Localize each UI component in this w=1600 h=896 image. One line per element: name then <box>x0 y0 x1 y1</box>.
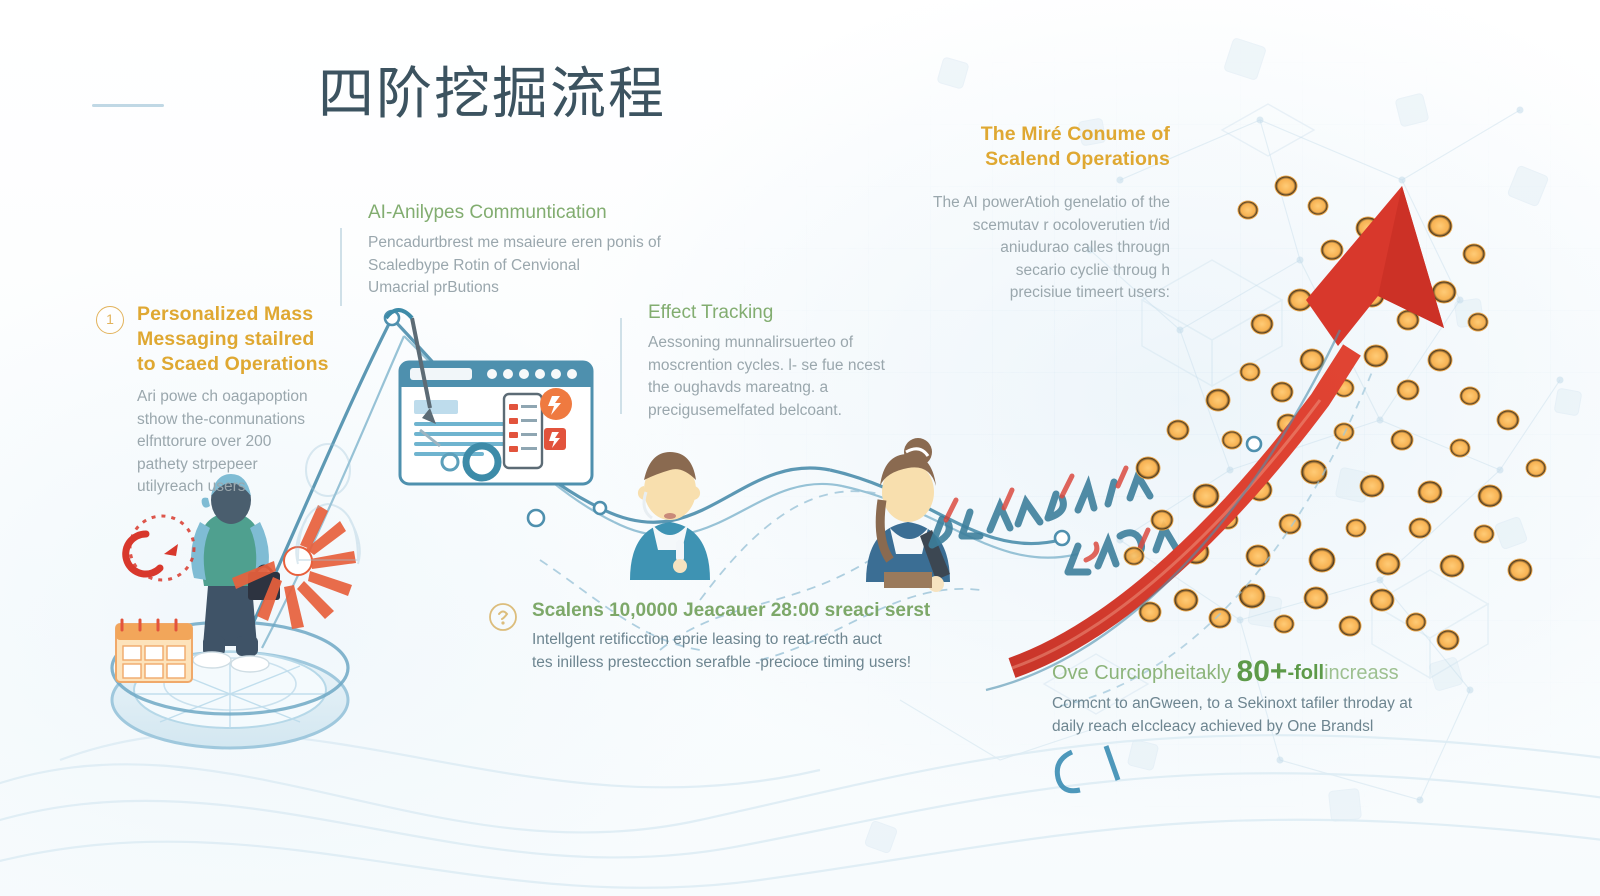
step-4-heading: The Miré Conume of Scalend Operations <box>840 122 1170 172</box>
agent-male-art <box>630 452 710 580</box>
growth-suffix: -foll <box>1287 662 1324 684</box>
step-4-heading-line-2: Scalend Operations <box>840 147 1170 172</box>
infographic-canvas: 四阶挖掘流程 1 Personalized Mass Messaging sta… <box>0 0 1600 896</box>
page-title: 四阶挖掘流程 <box>318 62 666 128</box>
step-2-body-line-2: Scaledbype Rotin of Cenvional <box>368 255 720 278</box>
step-2-heading: AI-Anilypes Communtication <box>368 200 720 225</box>
step-1-heading-line-3: to Scaed Operations <box>137 352 396 377</box>
step-3-body: Aessoning munnalirsuerteo of moscrention… <box>648 332 960 422</box>
step-1-heading-line-2: Messaging stailred <box>137 327 396 352</box>
scale-callout-body: Intellgent retificction eprie leasing to… <box>532 629 1008 674</box>
step-2-block: AI-Anilypes Communtication Pencadurtbres… <box>340 200 720 300</box>
step-3-body-line-3: the oughavds mareatng. a <box>648 377 960 400</box>
step-4-body-line-5: precisiue timeert users: <box>840 282 1170 305</box>
step-3-body-line-2: moscrention cycles. l- se fue ncest <box>648 355 960 378</box>
growth-plus: + <box>1270 655 1288 688</box>
growth-tail: increass <box>1324 662 1398 684</box>
step-1-number: 1 <box>96 306 124 334</box>
growth-callout-heading: Ove Curciopheitakly 80+-follincreass <box>1052 658 1512 687</box>
growth-callout-block: Ove Curciopheitakly 80+-follincreass Cor… <box>1052 658 1512 738</box>
scale-callout-block: Scalens 10,0000 Jeacauer 28:00 sreaci se… <box>488 598 1008 674</box>
step-1-heading: Personalized Mass Messaging stailred to … <box>137 302 396 377</box>
step-3-body-line-4: precigusemelfated belcoant. <box>648 400 960 423</box>
step-1-body-line-3: elfnttorure over 200 <box>137 431 396 454</box>
scale-callout-body-line-2: tes inilless prestecction serafble -prec… <box>532 652 1008 675</box>
step-2-body: Pencadurtbrest me msaieure eren ponis of… <box>368 232 720 300</box>
step-4-body-line-1: The AI powerAtioh genelatio of the <box>840 192 1170 215</box>
step-1-block: 1 Personalized Mass Messaging stailred t… <box>96 302 396 499</box>
step-4-body-line-3: aniudurao calles througn <box>840 237 1170 260</box>
step-2-body-line-1: Pencadurtbrest me msaieure eren ponis of <box>368 232 720 255</box>
scale-callout-heading: Scalens 10,0000 Jeacauer 28:00 sreaci se… <box>532 598 1008 624</box>
growth-callout-body: Cormcnt to anGween, to a Sekinoxt tafile… <box>1052 693 1512 738</box>
step-4-heading-line-1: The Miré Conume of <box>840 122 1170 147</box>
step-3-block: Effect Tracking Aessoning munnalirsuerte… <box>620 300 960 422</box>
step-1-body-line-4: pathety strpepeer <box>137 454 396 477</box>
platform-person-art <box>112 474 356 748</box>
dashboard-art <box>386 310 592 484</box>
step-4-body-line-2: scemutav r ocoloverutien t/id <box>840 215 1170 238</box>
step-4-block: The Miré Conume of Scalend Operations Th… <box>840 122 1170 305</box>
agent-female-art <box>866 438 950 592</box>
scale-callout-body-line-1: Intellgent retificction eprie leasing to… <box>532 629 1008 652</box>
step-3-body-line-1: Aessoning munnalirsuerteo of <box>648 332 960 355</box>
step-1-body-line-5: utilyreach users <box>137 476 396 499</box>
coin-cluster-art <box>1124 176 1546 650</box>
step-3-divider <box>620 318 622 414</box>
step-4-body: The AI powerAtioh genelatio of the scemu… <box>840 192 1170 305</box>
growth-callout-body-line-2: daily reach eIccleacy achieved by One Br… <box>1052 716 1512 739</box>
step-1-body-line-2: sthow the-conmunations <box>137 409 396 432</box>
step-2-divider <box>340 228 342 306</box>
growth-value: 80 <box>1237 655 1270 688</box>
step-4-body-line-4: secario cyclie throug h <box>840 260 1170 283</box>
growth-prefix: Ove Curciopheitakly <box>1052 662 1231 684</box>
title-accent-rule <box>92 104 164 107</box>
step-1-body-line-1: Ari powe ch oagapoption <box>137 386 396 409</box>
info-circle-icon <box>488 602 518 632</box>
growth-callout-body-line-1: Cormcnt to anGween, to a Sekinoxt tafile… <box>1052 693 1512 716</box>
step-2-body-line-3: Umacrial prButions <box>368 277 720 300</box>
step-1-body: Ari powe ch oagapoption sthow the-conmun… <box>137 386 396 499</box>
step-1-heading-line-1: Personalized Mass <box>137 302 396 327</box>
